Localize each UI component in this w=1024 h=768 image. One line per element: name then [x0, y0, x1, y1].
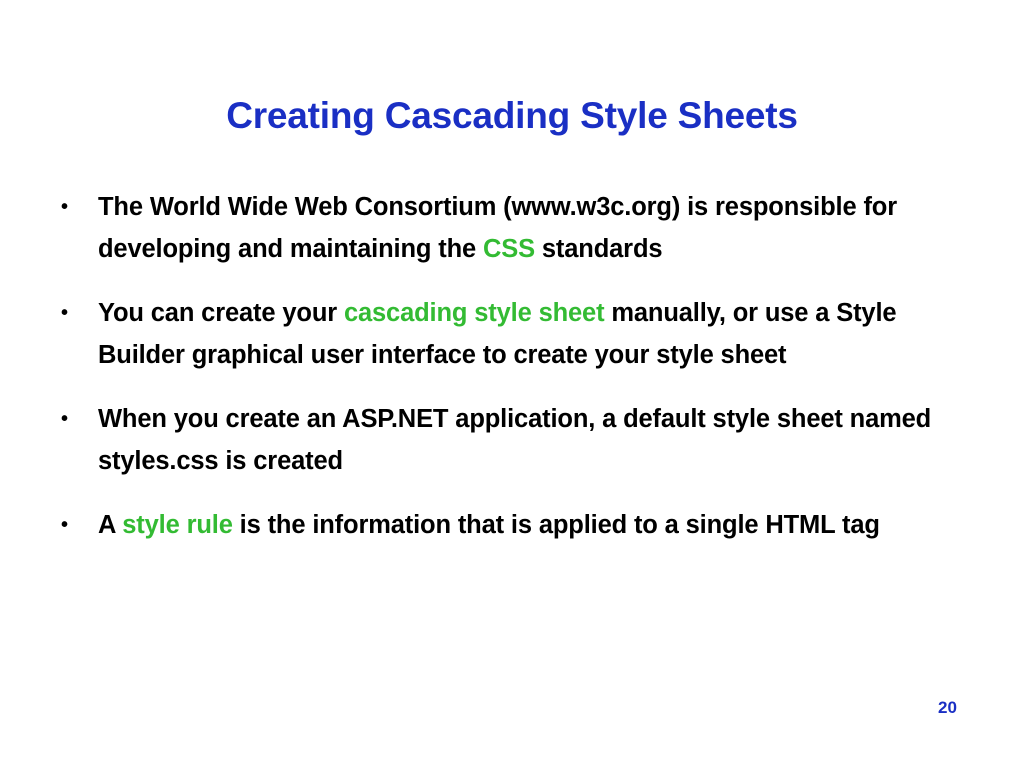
- list-item-text: The World Wide Web Consortium (www.w3c.o…: [98, 186, 968, 270]
- text-segment: A: [98, 511, 122, 539]
- text-segment: is the information that is applied to a …: [233, 511, 880, 539]
- highlighted-term: cascading style sheet: [344, 299, 604, 327]
- list-item-text: A style rule is the information that is …: [98, 504, 968, 546]
- highlighted-term: CSS: [483, 235, 535, 263]
- bullet-list: • The World Wide Web Consortium (www.w3c…: [56, 186, 968, 546]
- list-item-text: When you create an ASP.NET application, …: [98, 398, 968, 482]
- bullet-point-icon: •: [61, 292, 81, 334]
- text-segment: You can create your: [98, 299, 344, 327]
- bullet-point-icon: •: [61, 504, 81, 546]
- list-item: • You can create your cascading style sh…: [56, 292, 968, 376]
- bullet-point-icon: •: [61, 186, 81, 228]
- bullet-point-icon: •: [61, 398, 81, 440]
- presentation-slide: Creating Cascading Style Sheets • The Wo…: [0, 0, 1024, 768]
- page-number: 20: [938, 698, 957, 718]
- text-segment: When you create an ASP.NET application, …: [98, 405, 931, 475]
- text-segment: standards: [535, 235, 662, 263]
- list-item: • The World Wide Web Consortium (www.w3c…: [56, 186, 968, 270]
- list-item: • When you create an ASP.NET application…: [56, 398, 968, 482]
- list-item: • A style rule is the information that i…: [56, 504, 968, 546]
- page-title: Creating Cascading Style Sheets: [0, 97, 1024, 136]
- highlighted-term: style rule: [122, 511, 232, 539]
- list-item-text: You can create your cascading style shee…: [98, 292, 968, 376]
